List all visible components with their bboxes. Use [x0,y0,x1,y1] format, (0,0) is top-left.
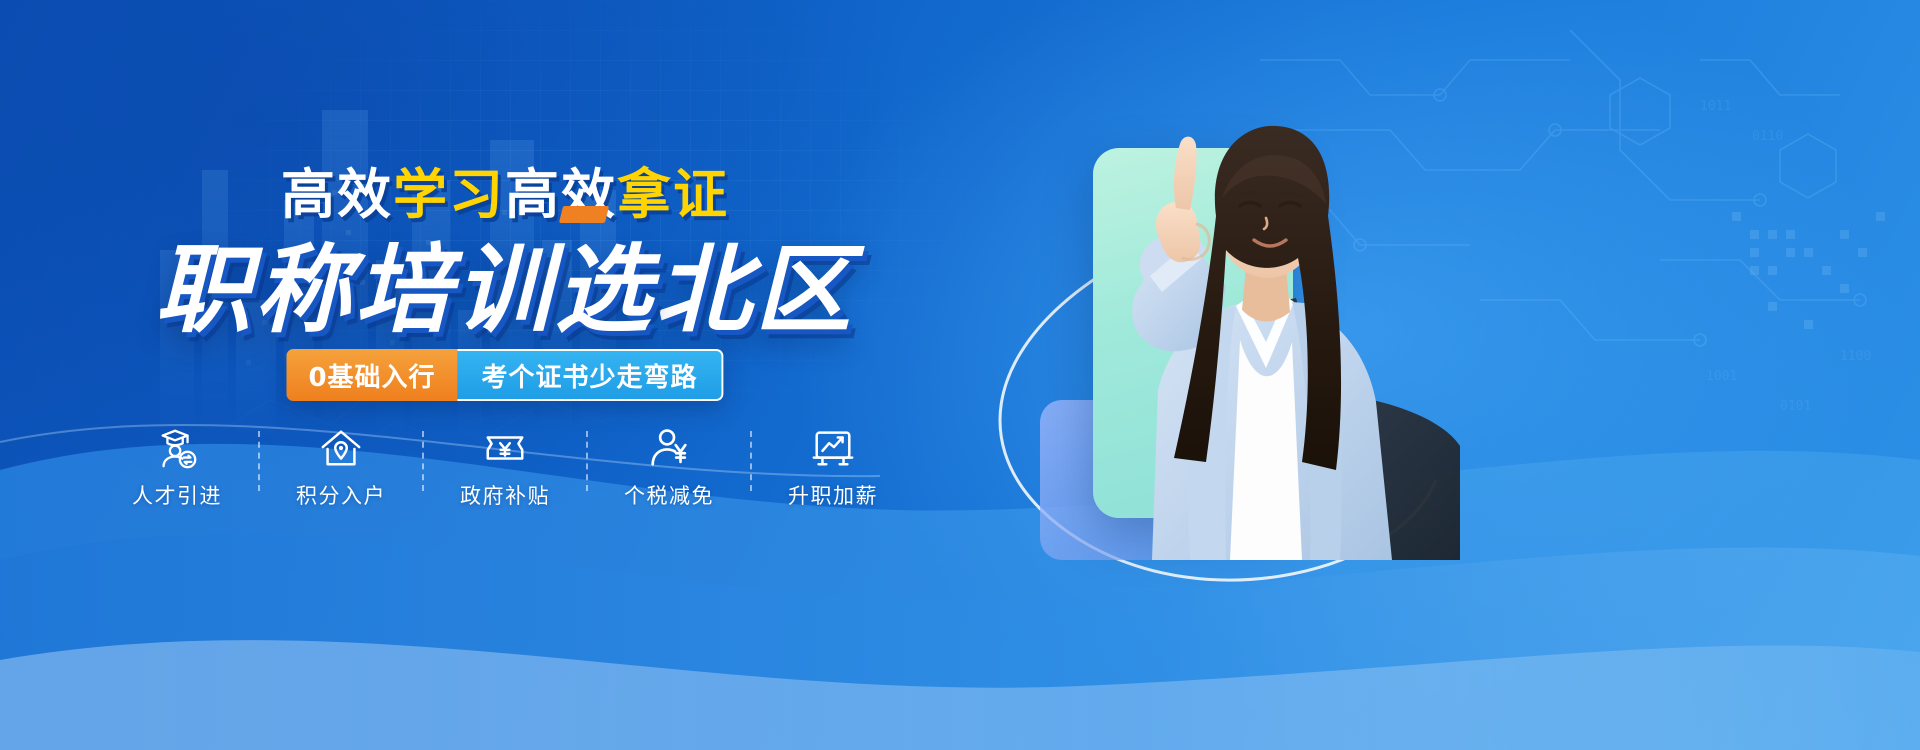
feature-label: 升职加薪 [788,480,878,510]
feature-label: 个税减免 [624,480,714,510]
feature-list: 人才引进 积分入户 [110,425,900,510]
person-yuan-icon [646,425,692,471]
headline-after: 北区 [655,234,855,346]
person-photo [1040,90,1460,560]
svg-text:0110: 0110 [1752,129,1783,144]
feature-divider [750,431,752,491]
svg-text:1011: 1011 [1700,99,1731,114]
feature-label: 人才引进 [132,480,222,510]
feature-divider [422,431,424,491]
headline: 职称培训选北区 [0,212,1010,351]
tagline-pill[interactable]: 0基础入行 考个证书少走弯路 [286,349,723,401]
feature-divider [258,431,260,491]
headline-before: 职称培训 [155,234,555,346]
feature-item-promotion[interactable]: 升职加薪 [766,425,900,510]
feature-label: 政府补贴 [460,480,550,510]
feature-divider [586,431,588,491]
promo-banner: 10110110 10010101 1100 [0,0,1920,750]
graduate-exchange-icon [154,425,200,471]
banner-copy: 高效学习高效拿证 职称培训选北区 0基础入行 考个证书少走弯路 [0,0,1010,750]
feature-item-talent[interactable]: 人才引进 [110,425,244,510]
headline-accent-char: 选 [555,212,655,351]
ticket-yuan-icon [482,425,528,471]
feature-item-tax[interactable]: 个税减免 [602,425,736,510]
house-pin-icon [318,425,364,471]
tagline-badge: 0基础入行 [286,349,457,401]
feature-item-points[interactable]: 积分入户 [274,425,408,510]
feature-label: 积分入户 [296,480,386,510]
chart-board-icon [810,425,856,471]
tagline-text: 考个证书少走弯路 [458,349,724,401]
feature-item-subsidy[interactable]: 政府补贴 [438,425,572,510]
